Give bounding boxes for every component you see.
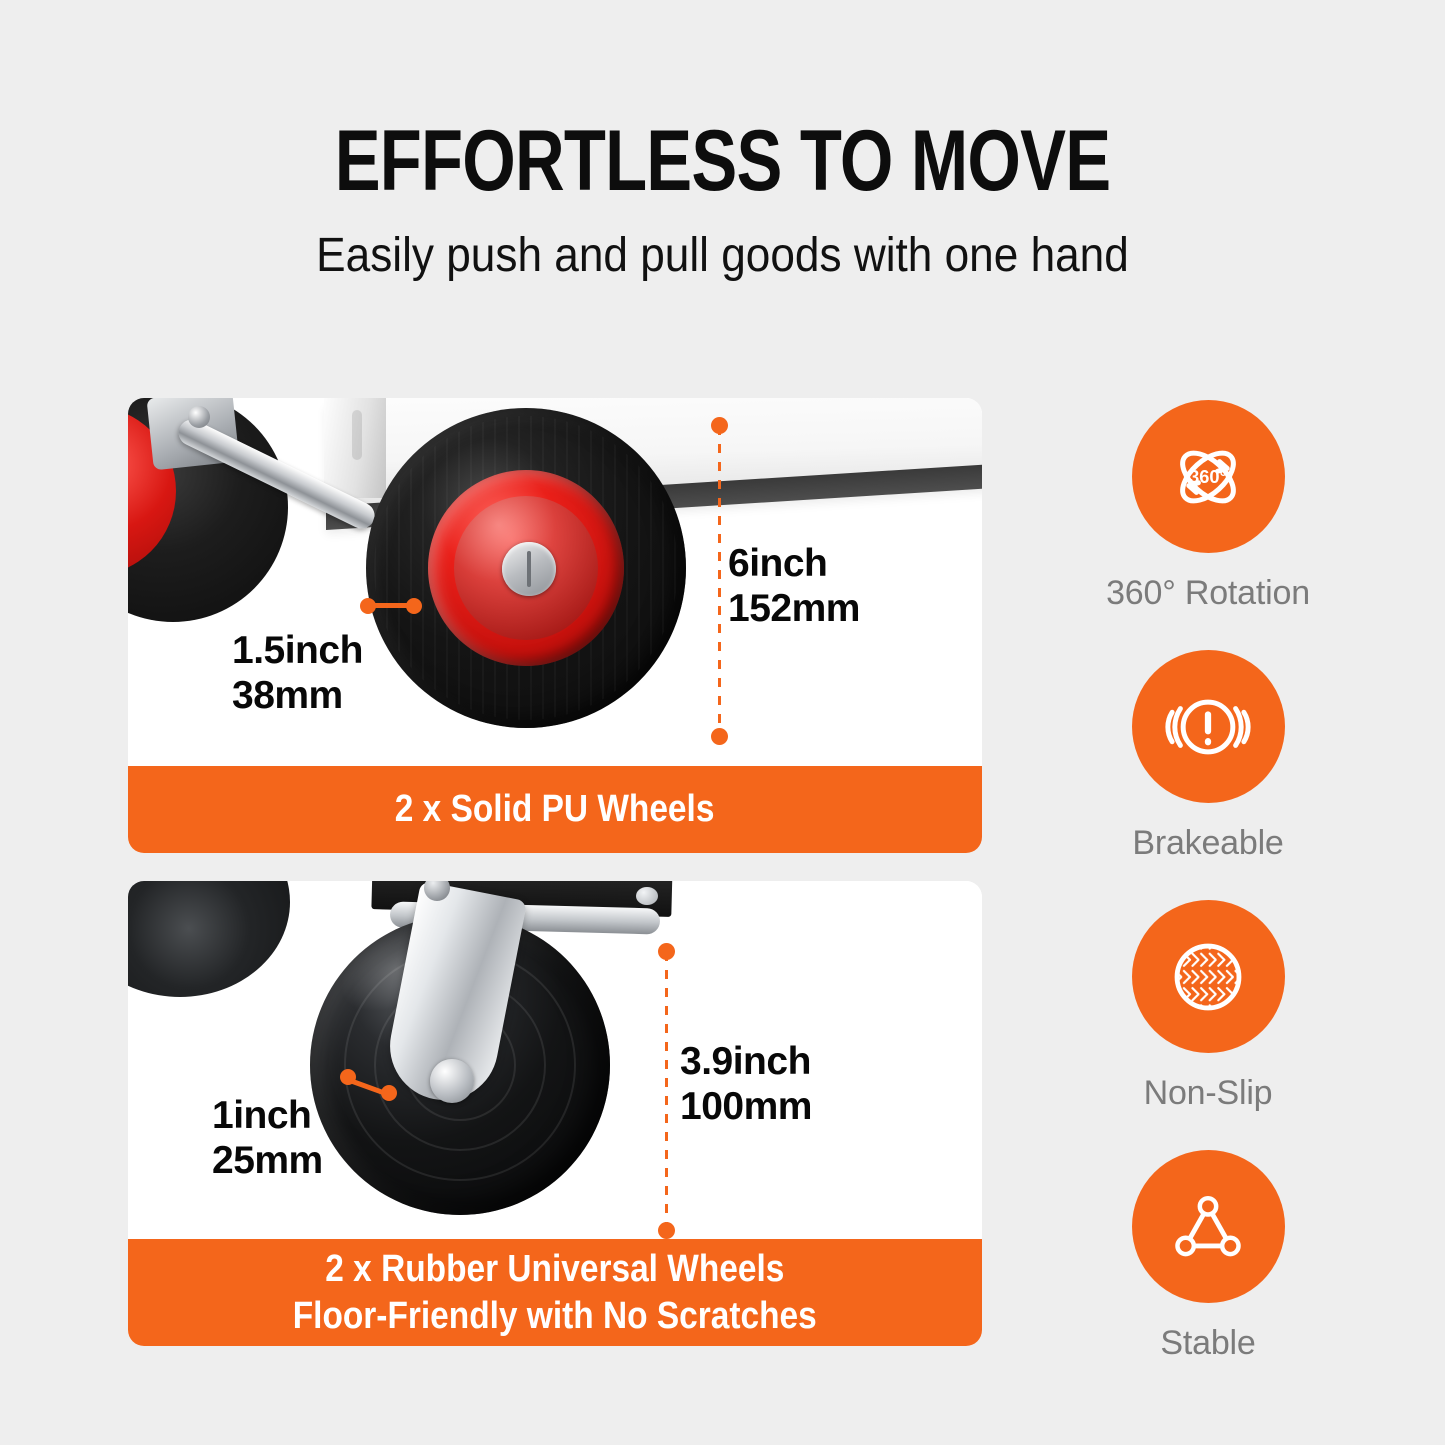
adjacent-wheel	[128, 881, 290, 997]
diameter-dot-bottom	[658, 1222, 675, 1239]
dimension-label-wheel-diameter: 3.9inch 100mm	[680, 1039, 812, 1129]
triangle-nodes-icon	[1165, 1184, 1251, 1270]
feature-badge	[1132, 900, 1285, 1053]
feature-brakeable: Brakeable	[1043, 650, 1373, 863]
banner-line-1: 2 x Solid PU Wheels	[395, 786, 715, 832]
feature-label: Brakeable	[1043, 824, 1373, 863]
feature-label: 360° Rotation	[1043, 574, 1373, 613]
thickness-marker-dot-right	[406, 598, 422, 614]
banner-line-2: Floor-Friendly with No Scratches	[293, 1293, 817, 1339]
dimension-line-2: 38mm	[232, 673, 363, 718]
banner-rubber-universal-wheels: 2 x Rubber Universal Wheels Floor-Friend…	[128, 1239, 982, 1346]
dimension-line-2: 152mm	[728, 586, 860, 631]
badge-degrees-text: 360°	[1189, 465, 1227, 486]
feature-badge	[1132, 650, 1285, 803]
feature-list: 360° 360° Rotation Brakeable	[1043, 400, 1373, 1400]
page-title: EFFORTLESS TO MOVE	[145, 118, 1301, 204]
thickness-marker-dot-inner	[381, 1085, 397, 1101]
diameter-dot-bottom	[711, 728, 728, 745]
dimension-line-1: 1inch	[212, 1093, 323, 1138]
header: EFFORTLESS TO MOVE Easily push and pull …	[0, 0, 1445, 283]
page-subtitle: Easily push and pull goods with one hand	[58, 230, 1387, 283]
brake-warning-icon	[1162, 681, 1254, 773]
feature-360-rotation: 360° 360° Rotation	[1043, 400, 1373, 613]
front-wheel-cap	[502, 542, 556, 596]
product-cards: 1.5inch 38mm 6inch 152mm 2 x Solid PU Wh…	[128, 398, 982, 1346]
front-wheel-tire	[366, 408, 686, 728]
dimension-line-2: 100mm	[680, 1084, 812, 1129]
axle-bolt	[188, 406, 210, 428]
dimension-label-tire-thickness: 1.5inch 38mm	[232, 628, 363, 718]
diamond-plate-tread-icon	[1165, 934, 1251, 1020]
dimension-label-tire-thickness: 1inch 25mm	[212, 1093, 323, 1183]
cart-post	[324, 398, 386, 498]
caster-axle-pin	[430, 1059, 474, 1103]
diameter-dashed-line	[665, 952, 668, 1224]
dimension-label-wheel-diameter: 6inch 152mm	[728, 541, 860, 631]
feature-label: Stable	[1043, 1324, 1373, 1363]
feature-badge: 360°	[1132, 400, 1285, 553]
photo-swivel-caster: 1inch 25mm 3.9inch 100mm	[128, 881, 982, 1239]
dimension-line-1: 1.5inch	[232, 628, 363, 673]
dimension-line-1: 3.9inch	[680, 1039, 812, 1084]
caster-screw-right	[636, 887, 658, 905]
thickness-marker-bar	[372, 603, 410, 608]
photo-pu-wheel: 1.5inch 38mm 6inch 152mm	[128, 398, 982, 766]
feature-badge	[1132, 1150, 1285, 1303]
card-rubber-universal-wheels: 1inch 25mm 3.9inch 100mm 2 x Rubber Univ…	[128, 881, 982, 1346]
feature-stable: Stable	[1043, 1150, 1373, 1363]
diameter-dashed-line	[718, 426, 721, 730]
feature-non-slip: Non-Slip	[1043, 900, 1373, 1113]
dimension-line-2: 25mm	[212, 1138, 323, 1183]
dimension-line-1: 6inch	[728, 541, 860, 586]
card-solid-pu-wheels: 1.5inch 38mm 6inch 152mm 2 x Solid PU Wh…	[128, 398, 982, 853]
banner-line-1: 2 x Rubber Universal Wheels	[325, 1246, 784, 1292]
360-rotation-icon: 360°	[1160, 429, 1256, 525]
banner-solid-pu-wheels: 2 x Solid PU Wheels	[128, 766, 982, 853]
feature-label: Non-Slip	[1043, 1074, 1373, 1113]
